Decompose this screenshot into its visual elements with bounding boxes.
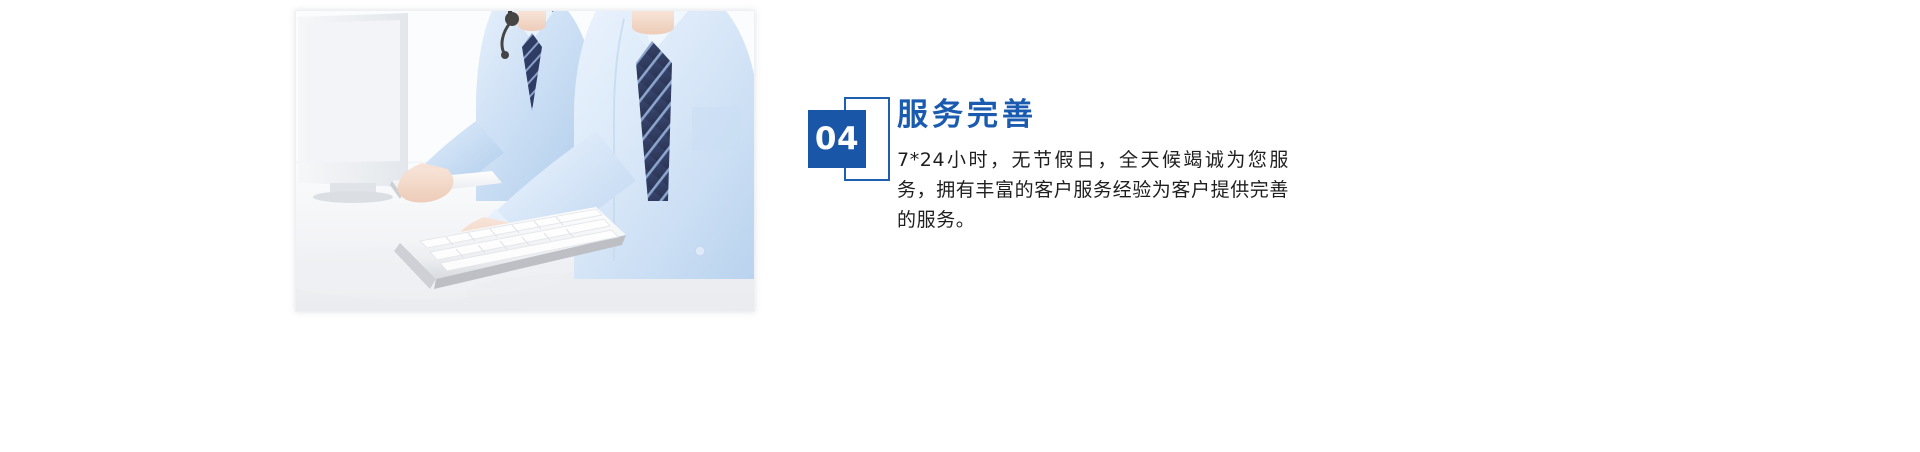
feature-banner: 04 服务完善 7*24小时，无节假日，全天候竭诚为您服务，拥有丰富的客户服务经… <box>0 0 1920 452</box>
feature-description: 7*24小时，无节假日，全天候竭诚为您服务，拥有丰富的客户服务经验为客户提供完善… <box>897 145 1289 235</box>
badge-filled-square: 04 <box>808 110 866 168</box>
feature-photo-frame <box>295 10 755 312</box>
step-badge: 04 <box>808 97 892 183</box>
office-agents-illustration <box>296 11 754 311</box>
feature-heading: 服务完善 <box>897 96 1317 135</box>
feature-text-block: 服务完善 7*24小时，无节假日，全天候竭诚为您服务，拥有丰富的客户服务经验为客… <box>897 96 1317 235</box>
badge-number-label: 04 <box>808 110 866 168</box>
office-agents-photo <box>296 11 754 311</box>
